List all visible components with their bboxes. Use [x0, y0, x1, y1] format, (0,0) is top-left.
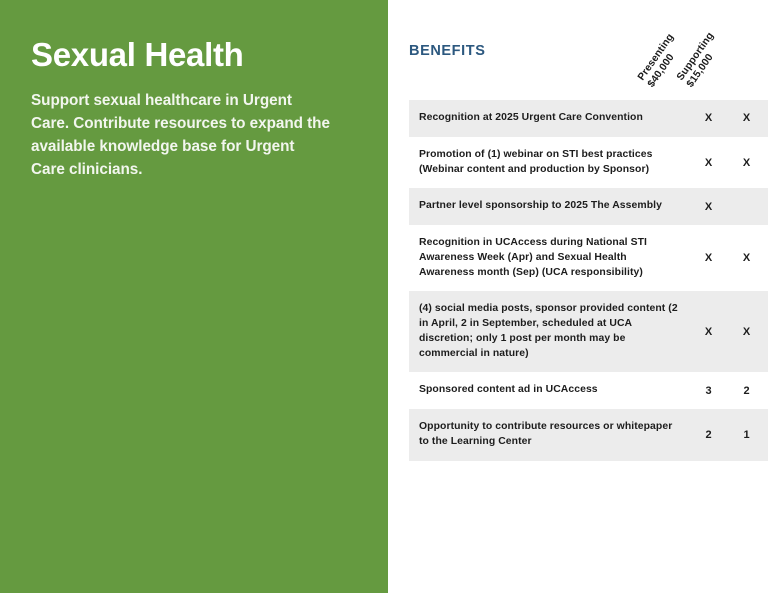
table-row: Opportunity to contribute resources or w…	[409, 409, 768, 461]
benefit-value-tier-1: X	[728, 100, 768, 137]
benefit-label: Opportunity to contribute resources or w…	[409, 409, 690, 461]
benefit-value-tier-1: 1	[728, 409, 768, 461]
benefit-label: Sponsored content ad in UCAccess	[409, 372, 690, 409]
benefit-value-tier-0: X	[690, 137, 728, 189]
benefit-value-tier-0: X	[690, 291, 728, 372]
tier-header-0: Presenting$40,000	[636, 32, 687, 90]
page-title: Sexual Health	[31, 38, 354, 73]
page-description: Support sexual healthcare in Urgent Care…	[31, 89, 331, 182]
benefit-label: (4) social media posts, sponsor provided…	[409, 291, 690, 372]
sponsorship-overview-panel: Sexual Health Support sexual healthcare …	[0, 0, 388, 593]
benefit-value-tier-1: 2	[728, 372, 768, 409]
benefit-value-tier-1: X	[728, 225, 768, 291]
tier-column-headers: Presenting$40,000Supporting$15,000	[388, 0, 768, 96]
benefit-value-tier-1: X	[728, 291, 768, 372]
tier-header-1: Supporting$15,000	[675, 30, 727, 90]
table-row: (4) social media posts, sponsor provided…	[409, 291, 768, 372]
benefit-value-tier-0: X	[690, 188, 728, 225]
table-row: Recognition in UCAccess during National …	[409, 225, 768, 291]
benefit-value-tier-0: X	[690, 100, 728, 137]
benefit-label: Recognition in UCAccess during National …	[409, 225, 690, 291]
table-row: Partner level sponsorship to 2025 The As…	[409, 188, 768, 225]
benefit-label: Promotion of (1) webinar on STI best pra…	[409, 137, 690, 189]
benefits-table: Recognition at 2025 Urgent Care Conventi…	[409, 100, 768, 461]
benefit-value-tier-0: 3	[690, 372, 728, 409]
benefit-label: Recognition at 2025 Urgent Care Conventi…	[409, 100, 690, 137]
benefit-value-tier-1: X	[728, 137, 768, 189]
benefit-value-tier-0: X	[690, 225, 728, 291]
table-row: Recognition at 2025 Urgent Care Conventi…	[409, 100, 768, 137]
benefits-table-body: Recognition at 2025 Urgent Care Conventi…	[409, 100, 768, 461]
benefit-value-tier-1	[728, 188, 768, 225]
benefit-label: Partner level sponsorship to 2025 The As…	[409, 188, 690, 225]
table-row: Promotion of (1) webinar on STI best pra…	[409, 137, 768, 189]
benefit-value-tier-0: 2	[690, 409, 728, 461]
table-row: Sponsored content ad in UCAccess32	[409, 372, 768, 409]
benefits-panel: BENEFITS Presenting$40,000Supporting$15,…	[388, 0, 768, 593]
